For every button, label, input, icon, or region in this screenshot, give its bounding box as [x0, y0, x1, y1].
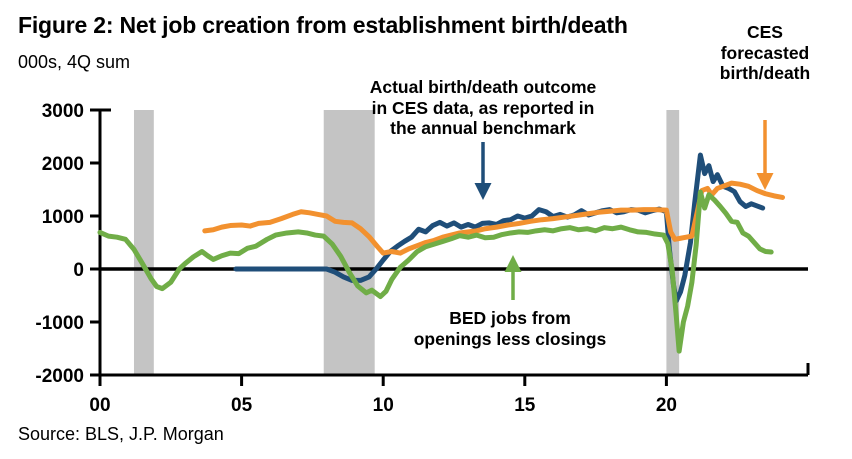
y-tick-label-0: 0 — [73, 260, 84, 281]
x-tick-label-20: 20 — [656, 395, 677, 416]
y-tick-label-3000: 3000 — [42, 101, 84, 122]
recession-band-1 — [134, 110, 154, 375]
x-tick-label-10: 10 — [373, 395, 394, 416]
x-tick-label-05: 05 — [231, 395, 253, 416]
green-annotation-arrow-head — [505, 255, 522, 272]
annotation-blue-label: Actual birth/death outcome in CES data, … — [349, 77, 617, 139]
y-tick-label-2000: 2000 — [42, 154, 84, 175]
blue-annotation-arrow-head — [475, 183, 492, 200]
y-tick-label--1000: -1000 — [35, 313, 84, 334]
annotation-orange-label: CES forecasted birth/death — [690, 22, 840, 84]
y-tick-label-1000: 1000 — [42, 207, 84, 228]
x-tick-label-15: 15 — [514, 395, 536, 416]
figure-container: Figure 2: Net job creation from establis… — [0, 0, 852, 459]
orange-annotation-arrow-head — [757, 173, 774, 190]
x-tick-label-00: 00 — [89, 395, 110, 416]
figure-source: Source: BLS, J.P. Morgan — [18, 424, 224, 445]
annotation-green-label: BED jobs from openings less closings — [392, 308, 628, 349]
y-tick-label--2000: -2000 — [35, 366, 84, 387]
